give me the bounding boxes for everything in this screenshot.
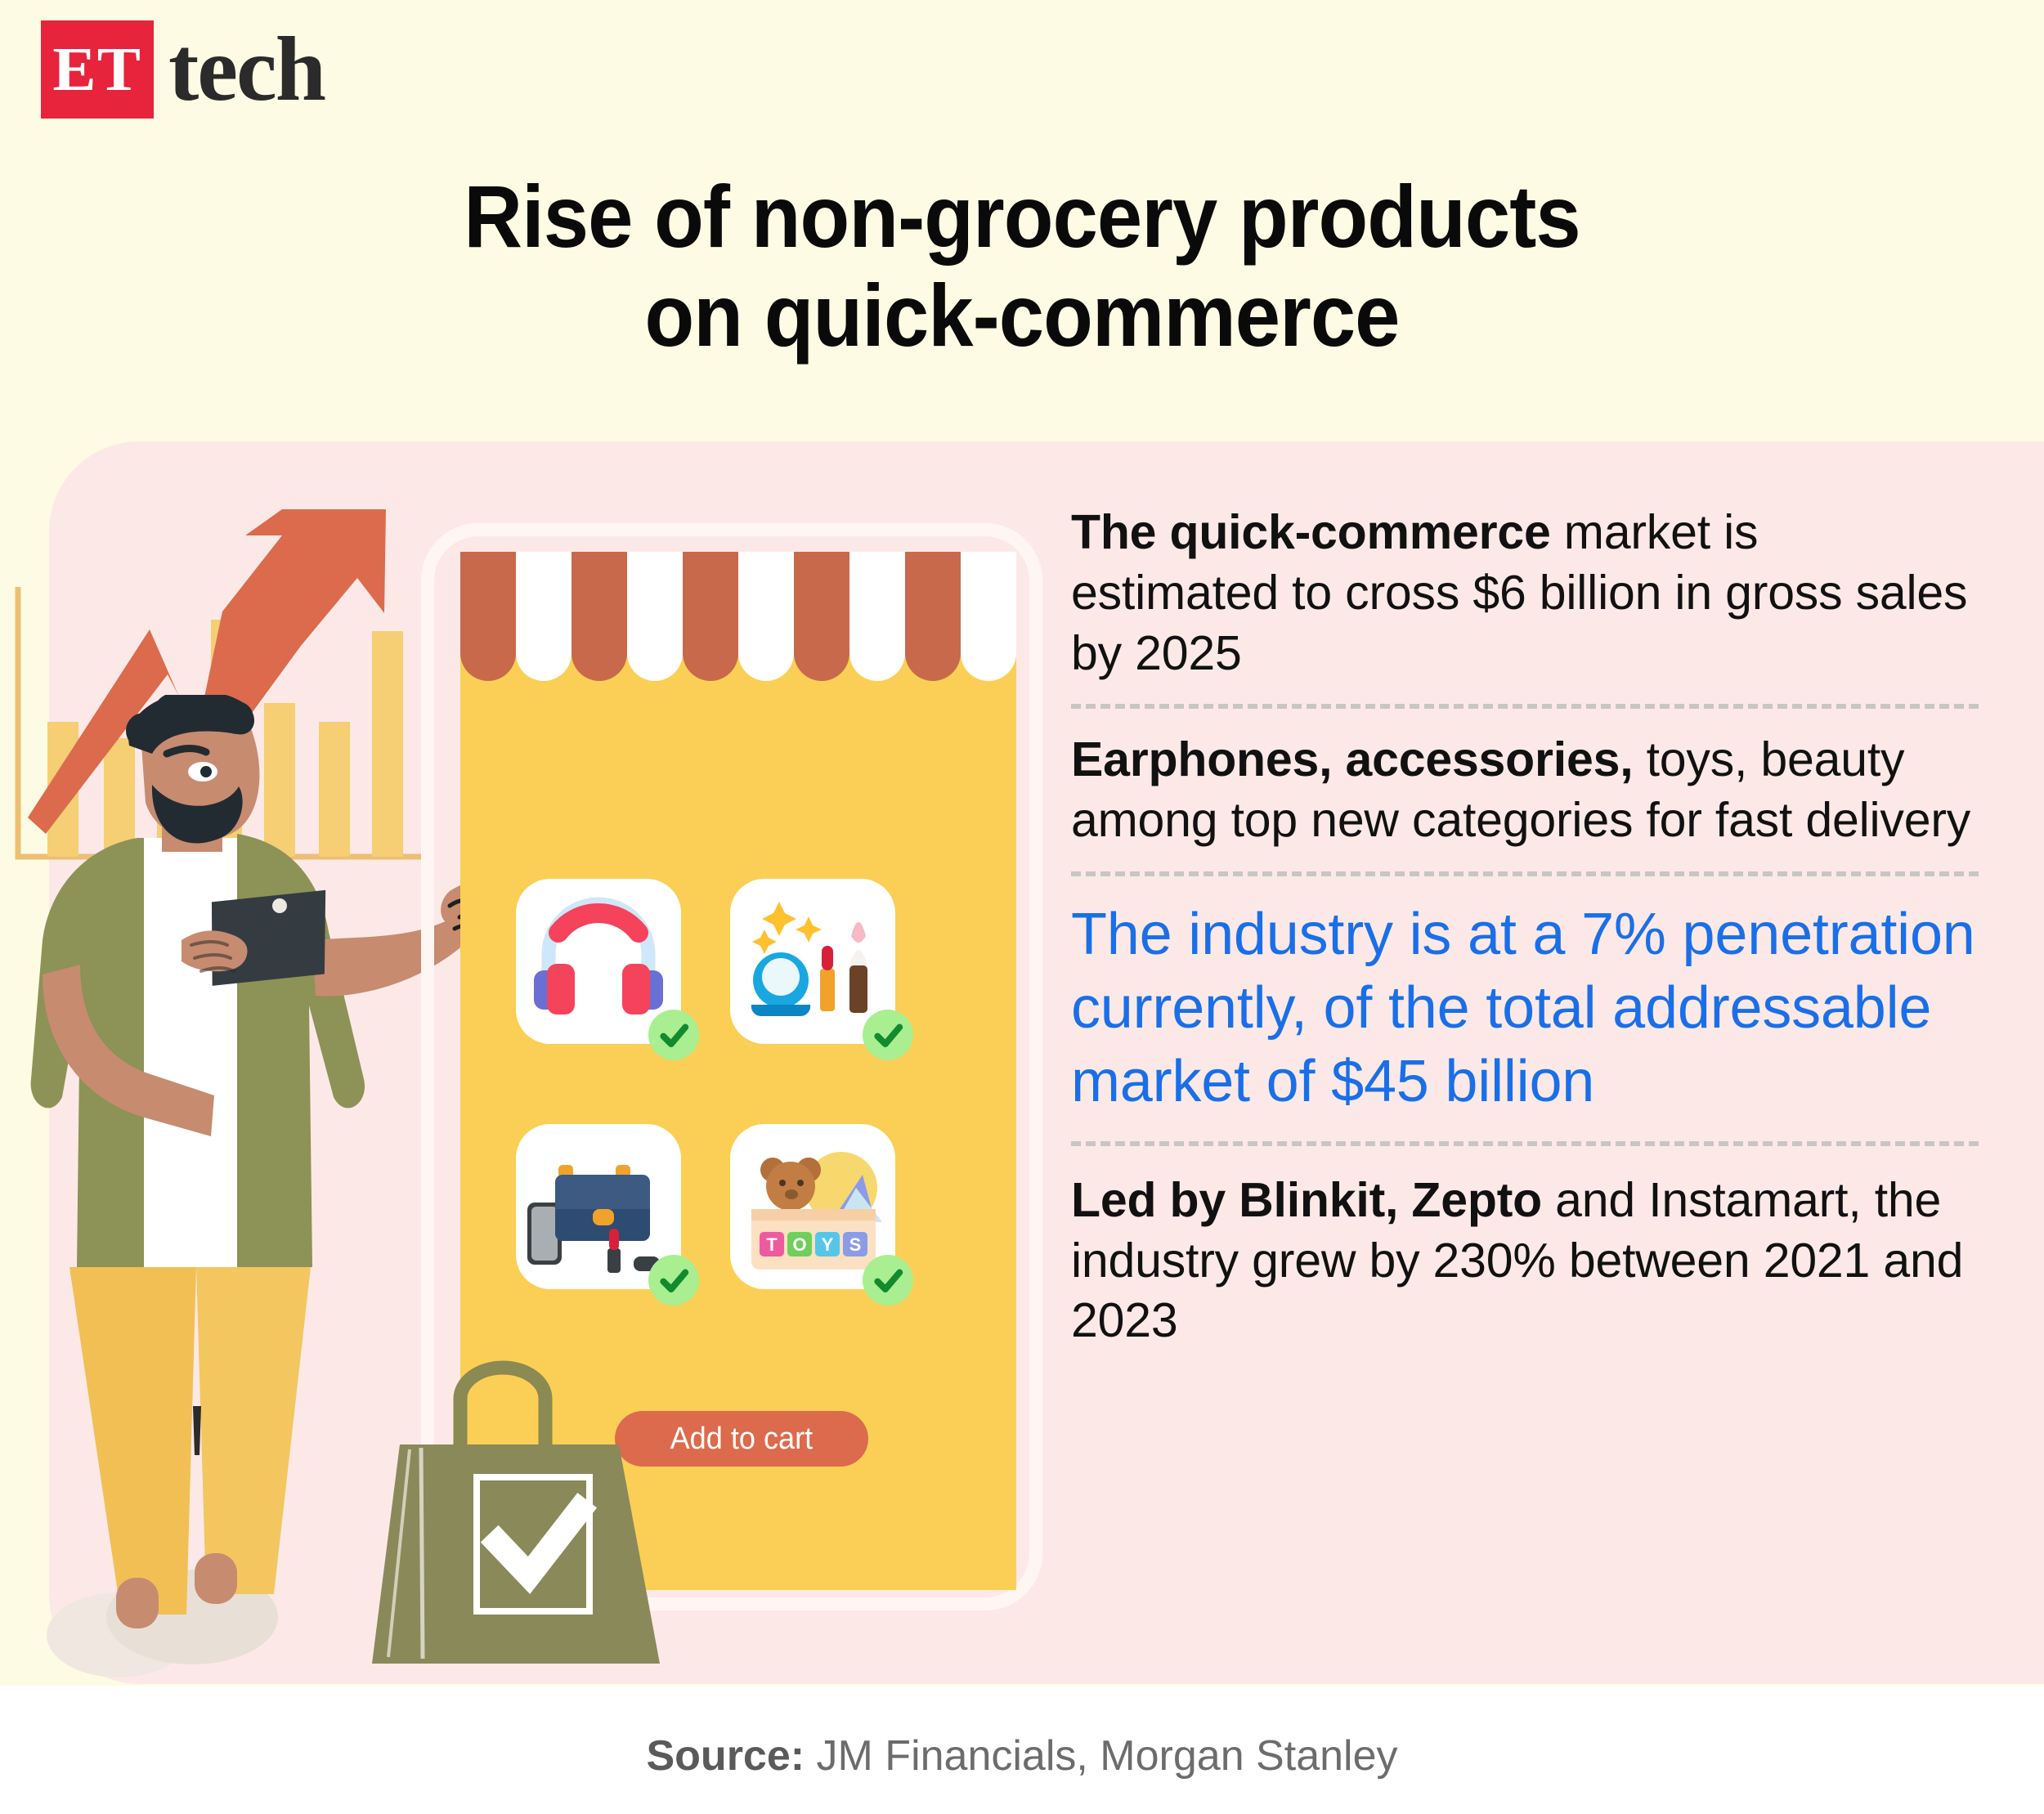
et-logo-text: ET	[53, 38, 142, 101]
source-value: JM Financials, Morgan Stanley	[805, 1732, 1397, 1780]
divider-2	[1071, 871, 1979, 876]
fact-block-2: Earphones, accessories, toys, beauty amo…	[1071, 730, 1979, 851]
fact-3-rest: The industry is at a 7% penetration curr…	[1071, 902, 1975, 1114]
fact-block-4: Led by Blinkit, Zepto and Instamart, the…	[1071, 1171, 1979, 1351]
ettech-logo: ET tech	[41, 20, 325, 119]
svg-text:S: S	[849, 1234, 862, 1255]
tech-logo-text: tech	[168, 24, 325, 115]
checkmark-badge-accessories	[648, 1255, 699, 1306]
divider-1	[1071, 704, 1979, 709]
fact-block-3-highlight: The industry is at a 7% penetration curr…	[1071, 898, 1979, 1118]
source-label: Source:	[646, 1732, 805, 1780]
divider-3	[1071, 1141, 1979, 1146]
storefront-awning	[460, 552, 1016, 683]
checkmark-badge-toys	[863, 1255, 913, 1306]
fact-2-bold: Earphones, accessories,	[1071, 732, 1633, 786]
title-line-1: Rise of non-grocery products	[82, 168, 1962, 267]
checkmark-badge-beauty	[863, 1010, 913, 1060]
svg-text:T: T	[766, 1234, 778, 1255]
product-tile-beauty[interactable]	[730, 879, 895, 1044]
facts-column: The quick-commerce market is estimated t…	[1071, 503, 1979, 1351]
product-tile-earphones[interactable]	[516, 879, 681, 1044]
infographic-page: ET tech Rise of non-grocery products on …	[0, 0, 2044, 1814]
svg-text:O: O	[792, 1234, 806, 1255]
fact-1-bold: The quick-commerce	[1071, 505, 1551, 559]
title-line-2: on quick-commerce	[82, 267, 1962, 365]
source-line: Source: JM Financials, Morgan Stanley	[0, 1731, 2044, 1780]
fact-4-bold: Led by Blinkit, Zepto	[1071, 1173, 1542, 1227]
svg-text:Y: Y	[822, 1234, 834, 1255]
product-tile-toys[interactable]: T O Y S	[730, 1124, 895, 1289]
checkmark-badge-earphones	[648, 1010, 699, 1060]
product-tile-accessories[interactable]	[516, 1124, 681, 1289]
page-title: Rise of non-grocery products on quick-co…	[0, 168, 2044, 365]
et-logo-mark: ET	[41, 20, 154, 119]
fact-block-1: The quick-commerce market is estimated t…	[1071, 503, 1979, 683]
add-to-cart-label: Add to cart	[670, 1422, 814, 1457]
shopping-bag-icon	[372, 1353, 691, 1668]
